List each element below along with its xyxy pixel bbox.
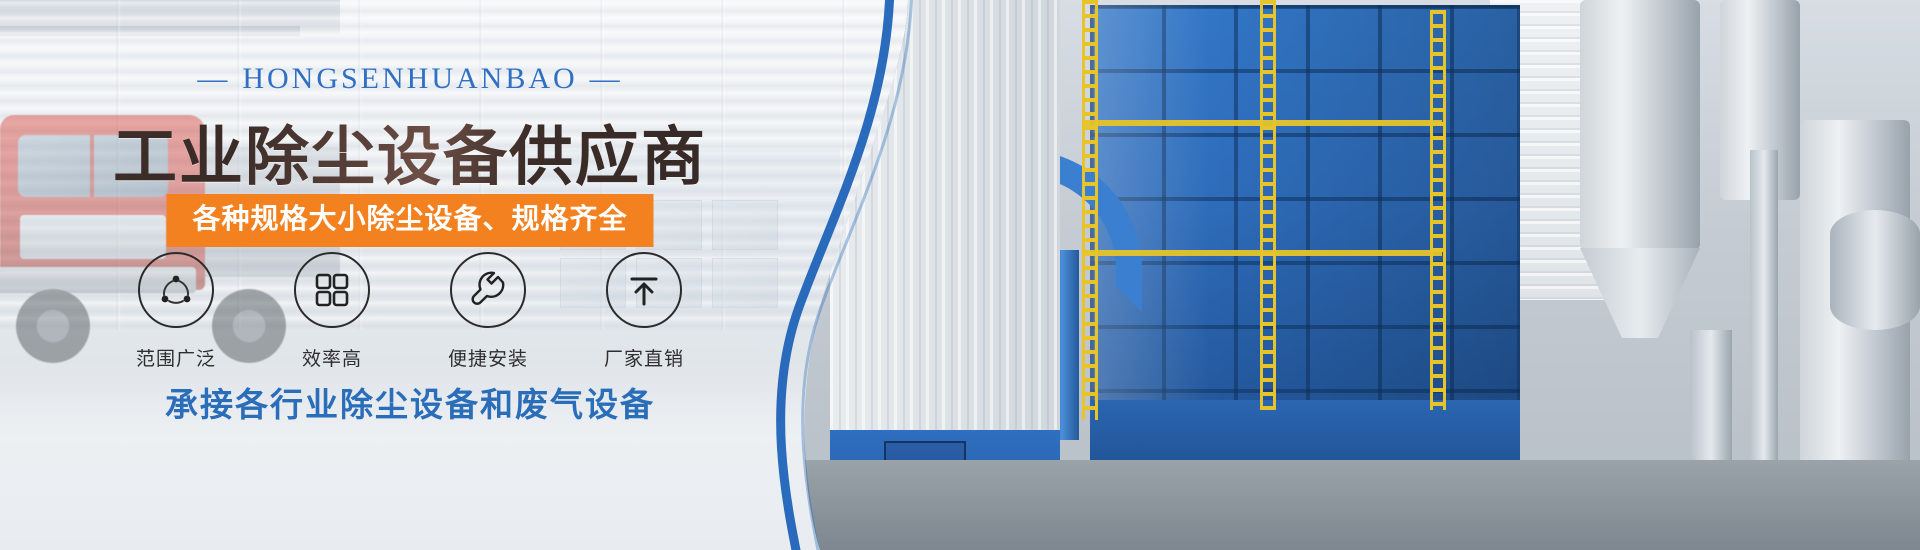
grid-squares-icon bbox=[294, 252, 370, 328]
feature-label: 效率高 bbox=[276, 344, 388, 371]
hero-banner: —HONGSENHUANBAO— 工业除尘设备供应商 各种规格大小除尘设备、规格… bbox=[0, 0, 1920, 550]
feature-item-coverage[interactable]: 范围广泛 bbox=[120, 252, 232, 371]
feature-label: 范围广泛 bbox=[120, 344, 232, 371]
feature-item-efficiency[interactable]: 效率高 bbox=[276, 252, 388, 371]
feature-label: 便捷安装 bbox=[432, 344, 544, 371]
brand-eyebrow: —HONGSENHUANBAO— bbox=[0, 62, 820, 96]
subtitle-highlight-bar: 各种规格大小除尘设备、规格齐全 bbox=[166, 194, 653, 247]
page-title: 工业除尘设备供应商 bbox=[0, 106, 820, 198]
ladder-1 bbox=[1082, 0, 1098, 420]
walkway-rail-2 bbox=[1082, 250, 1442, 256]
feature-list: 范围广泛 效率高 bbox=[0, 252, 820, 371]
silo-1 bbox=[1580, 0, 1700, 250]
banner-content: —HONGSENHUANBAO— 工业除尘设备供应商 各种规格大小除尘设备、规格… bbox=[0, 0, 820, 550]
walkway-rail-1 bbox=[1082, 120, 1442, 126]
eyebrow-dash-right: — bbox=[590, 62, 623, 96]
eyebrow-text: HONGSENHUANBAO bbox=[242, 62, 577, 95]
feature-item-factory-direct[interactable]: 厂家直销 bbox=[588, 252, 700, 371]
ladder-3 bbox=[1430, 10, 1446, 410]
ladder-2 bbox=[1260, 0, 1276, 410]
arrow-up-bar-icon bbox=[606, 252, 682, 328]
industrial-plant-photo bbox=[790, 0, 1920, 550]
round-duct bbox=[1830, 210, 1920, 330]
eyebrow-dash-left: — bbox=[197, 62, 230, 96]
banner-tagline: 承接各行业除尘设备和废气设备 bbox=[0, 378, 820, 426]
feature-label: 厂家直销 bbox=[588, 344, 700, 371]
feature-item-installation[interactable]: 便捷安装 bbox=[432, 252, 544, 371]
photo-ground bbox=[790, 460, 1920, 550]
network-nodes-icon bbox=[138, 252, 214, 328]
wrench-tool-icon bbox=[450, 252, 526, 328]
baghouse-cluster bbox=[1090, 5, 1520, 405]
